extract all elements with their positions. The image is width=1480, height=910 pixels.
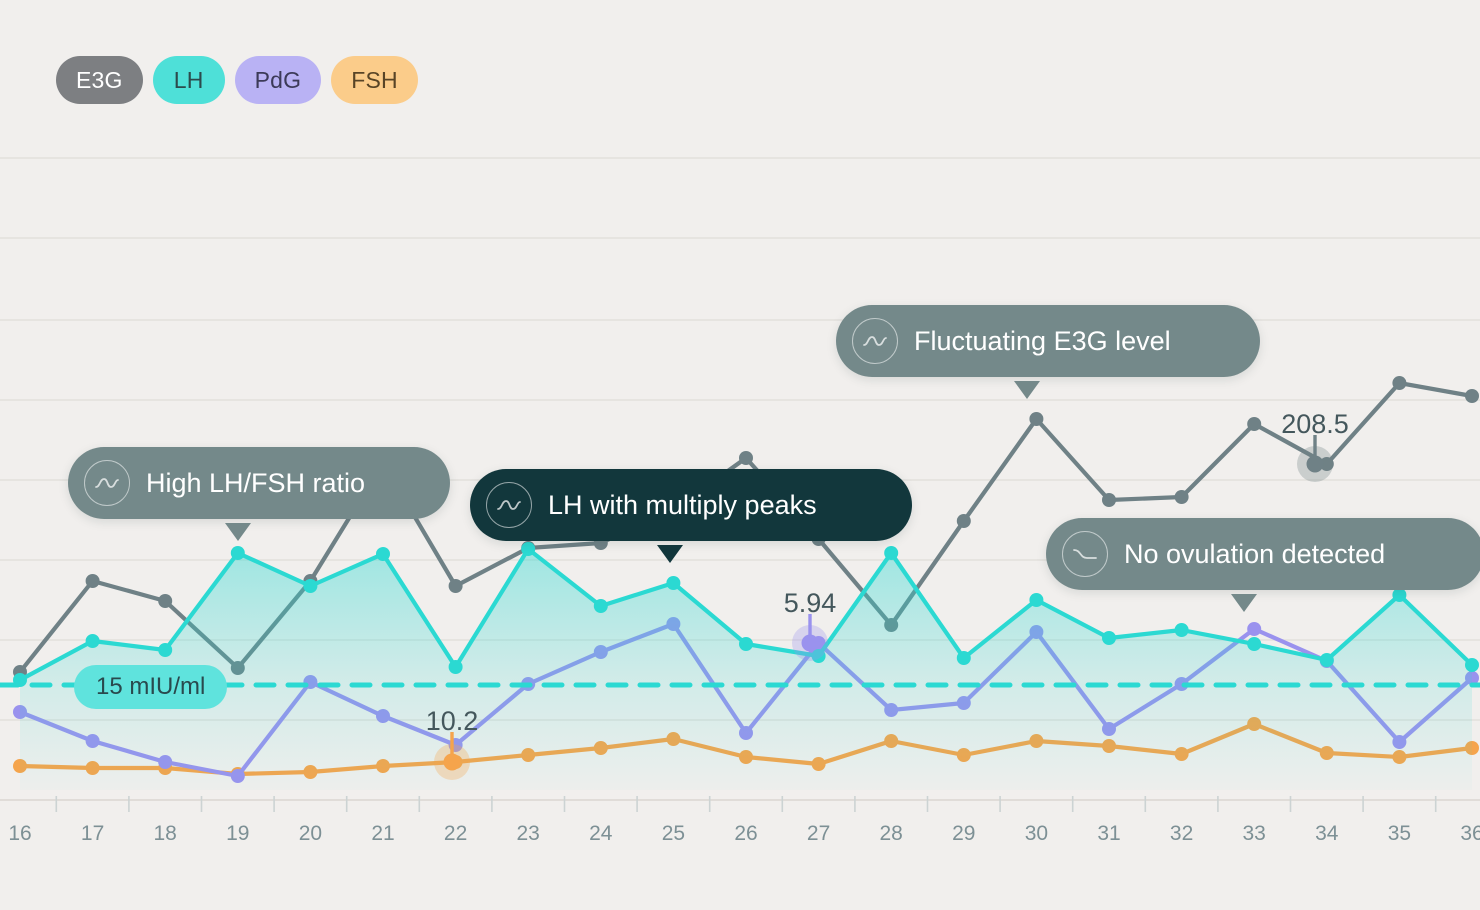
callout-tail	[1014, 375, 1040, 393]
legend-item-lh[interactable]: LH	[153, 56, 225, 104]
callout-tail	[657, 539, 683, 557]
wave-icon	[486, 482, 532, 528]
callout-tail	[225, 517, 251, 535]
callout-tail	[1231, 588, 1257, 606]
x-axis-label: 35	[1388, 822, 1411, 846]
callout-text: Fluctuating E3G level	[914, 326, 1171, 357]
x-axis-label: 30	[1025, 822, 1048, 846]
callout-fluctuating-e3g-level[interactable]: Fluctuating E3G level	[836, 305, 1260, 377]
value-label-fsh: 10.2	[426, 706, 479, 737]
x-axis-label: 36	[1460, 822, 1480, 846]
x-axis-label: 20	[299, 822, 322, 846]
x-axis-label: 31	[1097, 822, 1120, 846]
callout-high-lh-fsh-ratio[interactable]: High LH/FSH ratio	[68, 447, 450, 519]
x-axis-label: 18	[154, 822, 177, 846]
highlighted-data-point[interactable]	[444, 754, 461, 771]
callout-text: High LH/FSH ratio	[146, 468, 365, 499]
legend-item-pdg[interactable]: PdG	[235, 56, 322, 104]
value-label-pdg: 5.94	[784, 588, 837, 619]
highlighted-data-point[interactable]	[802, 635, 819, 652]
callout-no-ovulation-detected[interactable]: No ovulation detected	[1046, 518, 1480, 590]
callout-text: No ovulation detected	[1124, 539, 1385, 570]
legend-item-fsh[interactable]: FSH	[331, 56, 418, 104]
callout-lh-multiply-peaks[interactable]: LH with multiply peaks	[470, 469, 912, 541]
callout-text: LH with multiply peaks	[548, 490, 817, 521]
legend-item-label: FSH	[351, 67, 398, 94]
series-legend: E3GLHPdGFSH	[56, 56, 418, 104]
legend-item-label: LH	[174, 67, 204, 94]
x-axis-label: 16	[8, 822, 31, 846]
legend-item-e3g[interactable]: E3G	[56, 56, 143, 104]
wave-icon	[84, 460, 130, 506]
x-axis-label: 19	[226, 822, 249, 846]
x-axis-label: 24	[589, 822, 612, 846]
x-axis-label: 25	[662, 822, 685, 846]
x-axis-labels: 1617181920212223242526272829303132333435…	[0, 822, 1480, 862]
x-axis-label: 23	[517, 822, 540, 846]
value-label-e3g: 208.5	[1281, 409, 1349, 440]
x-axis-label: 26	[734, 822, 757, 846]
x-axis-label: 32	[1170, 822, 1193, 846]
wave-icon	[852, 318, 898, 364]
x-axis-label: 29	[952, 822, 975, 846]
legend-item-label: PdG	[255, 67, 302, 94]
x-axis-label: 17	[81, 822, 104, 846]
x-axis-label: 34	[1315, 822, 1338, 846]
x-axis-label: 33	[1243, 822, 1266, 846]
hormone-chart: E3GLHPdGFSH High LH/FSH ratioLH with mul…	[0, 0, 1480, 910]
flat-curve-icon	[1062, 531, 1108, 577]
threshold-label-text: 15 mIU/ml	[96, 673, 205, 701]
x-axis-label: 28	[880, 822, 903, 846]
x-axis-label: 22	[444, 822, 467, 846]
x-axis-label: 27	[807, 822, 830, 846]
threshold-label-pill: 15 mIU/ml	[74, 665, 227, 709]
highlighted-data-point[interactable]	[1307, 456, 1324, 473]
legend-item-label: E3G	[76, 67, 123, 94]
x-axis-label: 21	[371, 822, 394, 846]
